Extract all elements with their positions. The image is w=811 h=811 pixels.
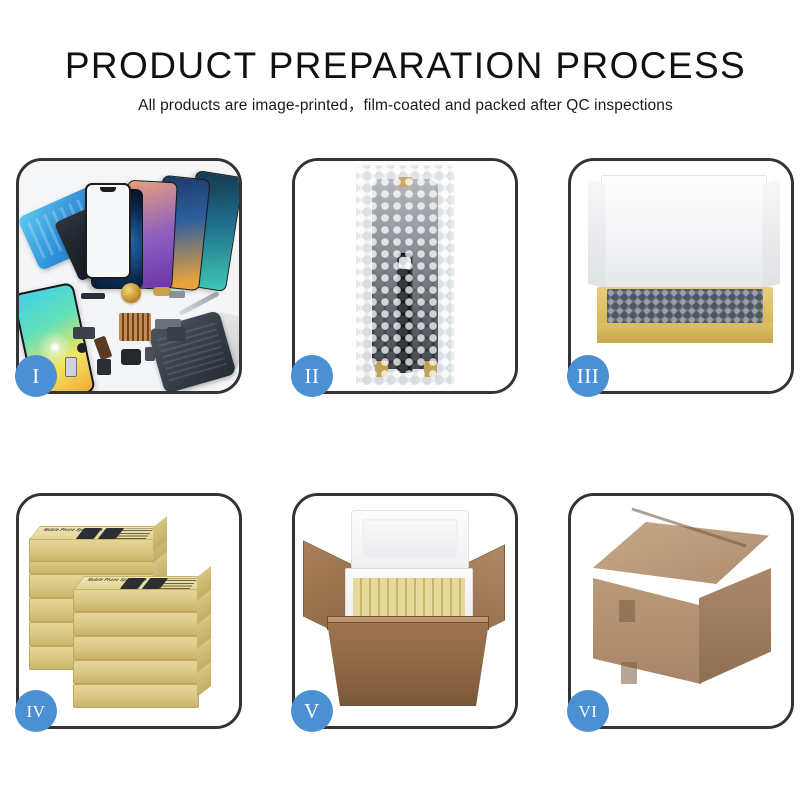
step-badge-4: IV xyxy=(15,690,57,732)
gold-box-icon xyxy=(73,636,199,660)
step-image-4: Mobile Phone Spare Parts xyxy=(19,496,239,726)
step-image-6 xyxy=(571,496,791,726)
part-icon xyxy=(77,343,87,353)
gold-box-icon xyxy=(73,612,199,636)
step-card-2[interactable]: II xyxy=(292,158,518,394)
part-icon xyxy=(145,347,155,361)
step-card-3[interactable]: III xyxy=(568,158,794,394)
gold-component-icon xyxy=(121,283,141,303)
step-image-2 xyxy=(295,161,515,391)
part-icon xyxy=(97,359,111,375)
step-badge-6: VI xyxy=(567,690,609,732)
step-card-1[interactable]: I xyxy=(16,158,242,394)
white-box-lid-icon xyxy=(601,175,767,293)
gold-box-icon xyxy=(73,684,199,708)
chip-grid-icon xyxy=(119,313,151,341)
bubble-wrapped-contents-icon xyxy=(607,289,763,323)
header: PRODUCT PREPARATION PROCESS All products… xyxy=(0,44,811,116)
step-image-1 xyxy=(19,161,239,391)
page-title: PRODUCT PREPARATION PROCESS xyxy=(0,44,811,88)
step-card-4[interactable]: Mobile Phone Spare Parts xyxy=(16,493,242,729)
gold-box-printed-icon: Mobile Phone Spare Parts xyxy=(73,588,199,612)
step-image-3 xyxy=(571,161,791,391)
step-card-6[interactable]: VI xyxy=(568,493,794,729)
poster-root: PRODUCT PREPARATION PROCESS All products… xyxy=(0,0,811,811)
gold-box-printed-icon: Mobile Phone Spare Parts xyxy=(29,538,155,562)
step-badge-3: III xyxy=(567,355,609,397)
part-icon xyxy=(94,336,113,361)
carton-left-face xyxy=(593,578,701,684)
part-icon xyxy=(167,327,185,341)
step-image-5 xyxy=(295,496,515,726)
gold-box-icon xyxy=(73,660,199,684)
part-icon xyxy=(121,349,141,365)
step-badge-5: V xyxy=(291,690,333,732)
page-subtitle: All products are image-printed，film-coat… xyxy=(0,96,811,116)
gold-box-stack: Mobile Phone Spare Parts xyxy=(25,512,237,720)
process-steps-grid: I II III xyxy=(16,158,795,729)
carton-top-face xyxy=(593,522,769,584)
part-icon xyxy=(73,327,95,339)
phone-white-front-glass-icon xyxy=(85,183,131,279)
carton-body-icon xyxy=(327,622,489,706)
bubble-wrap-texture xyxy=(356,165,454,387)
carton-tape-icon xyxy=(621,662,637,684)
step-badge-1: I xyxy=(15,355,57,397)
carton-right-face xyxy=(699,568,771,684)
part-icon xyxy=(169,291,185,298)
step-badge-2: II xyxy=(291,355,333,397)
part-icon xyxy=(81,293,105,299)
step-card-5[interactable]: V xyxy=(292,493,518,729)
part-icon xyxy=(65,357,77,377)
gold-box-front-panel xyxy=(597,323,773,343)
foam-box-lid-icon xyxy=(351,510,469,570)
carton-tape-icon xyxy=(619,600,635,622)
